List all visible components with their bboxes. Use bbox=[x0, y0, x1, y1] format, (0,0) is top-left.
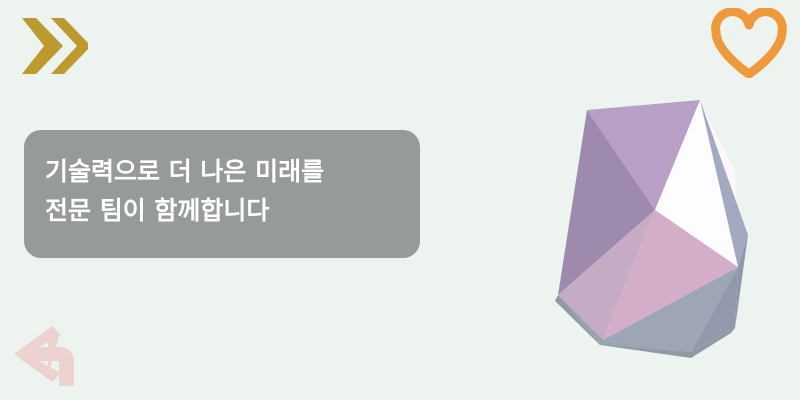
icosahedron-illustration bbox=[495, 75, 800, 375]
headline-line-2: 전문 팀이 함께합니다 bbox=[45, 191, 400, 230]
heart-outline-icon bbox=[708, 8, 790, 78]
headline-card: 기술력으로 더 나은 미래를 전문 팀이 함께합니다 bbox=[24, 130, 420, 258]
slide-canvas: 기술력으로 더 나은 미래를 전문 팀이 함께합니다 bbox=[0, 0, 800, 400]
return-arrow-left-icon bbox=[12, 316, 94, 390]
headline-line-1: 기술력으로 더 나은 미래를 bbox=[45, 152, 400, 191]
double-chevron-right-icon bbox=[18, 13, 88, 79]
